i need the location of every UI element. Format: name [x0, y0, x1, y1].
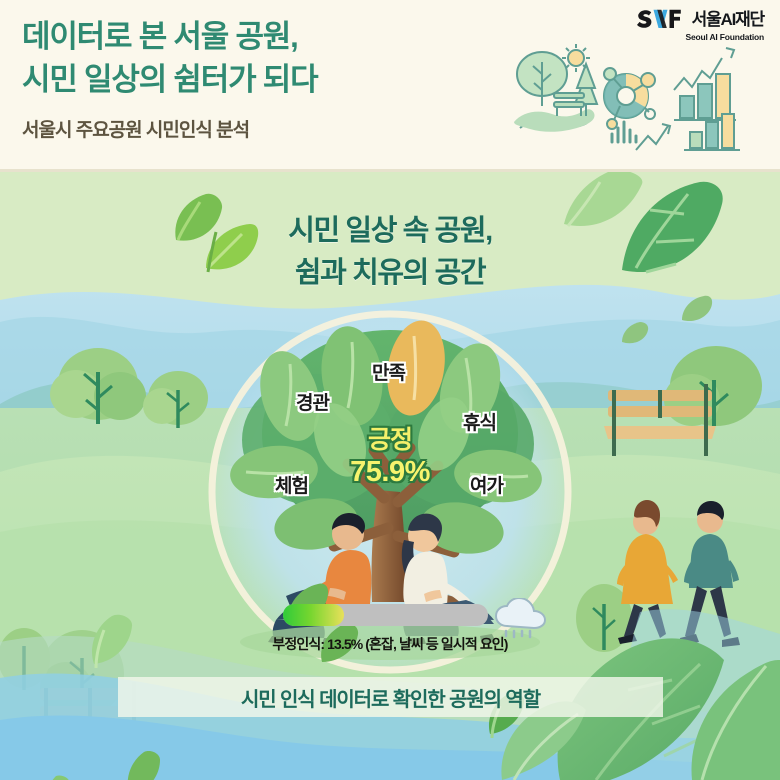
logo-row: 서울AI재단 [637, 8, 764, 30]
bottom-banner: 시민 인식 데이터로 확인한 공원의 역할 [118, 677, 663, 717]
page-title-line-2: 시민 일상의 쉼터가 되다 [22, 59, 542, 102]
trend-arrow-icon [636, 124, 670, 150]
logo-english-text: Seoul AI Foundation [637, 33, 764, 42]
negative-progress-bar [283, 604, 488, 626]
logo-korean-text: 서울AI재단 [692, 11, 764, 28]
keyword-label-scenery: 경관 [296, 388, 329, 415]
keyword-label-experience: 체험 [275, 471, 308, 498]
progress-fill [283, 604, 344, 626]
bar-chart-top-icon [674, 48, 736, 120]
keyword-label-satisfaction: 만족 [372, 358, 405, 385]
bottom-banner-text: 시민 인식 데이터로 확인한 공원의 역할 [241, 683, 540, 712]
main-illustration: 시민 일상 속 공원, 쉼과 치유의 공간 만족 경관 휴식 체험 여가 긍정 … [0, 172, 780, 780]
negative-stat-text: 부정인식: 13.5% (혼잡, 날씨 등 일시적 요인) [0, 634, 780, 654]
donut-chart-icon [604, 68, 655, 129]
header-illustration [502, 44, 770, 156]
header: 데이터로 본 서울 공원, 시민 일상의 쉼터가 되다 서울시 주요공원 시민인… [0, 0, 780, 172]
keyword-label-rest: 휴식 [463, 408, 496, 435]
header-title-block: 데이터로 본 서울 공원, 시민 일상의 쉼터가 되다 서울시 주요공원 시민인… [22, 16, 542, 142]
sun-icon [562, 44, 590, 72]
page-subtitle: 서울시 주요공원 시민인식 분석 [22, 115, 542, 142]
logo: 서울AI재단 Seoul AI Foundation [637, 8, 764, 42]
infographic-page: 데이터로 본 서울 공원, 시민 일상의 쉼터가 되다 서울시 주요공원 시민인… [0, 0, 780, 780]
park-scene-icon [514, 52, 597, 132]
page-title-line-1: 데이터로 본 서울 공원, [22, 16, 542, 59]
keyword-label-leisure: 여가 [470, 471, 503, 498]
saf-mark-icon [637, 8, 689, 30]
